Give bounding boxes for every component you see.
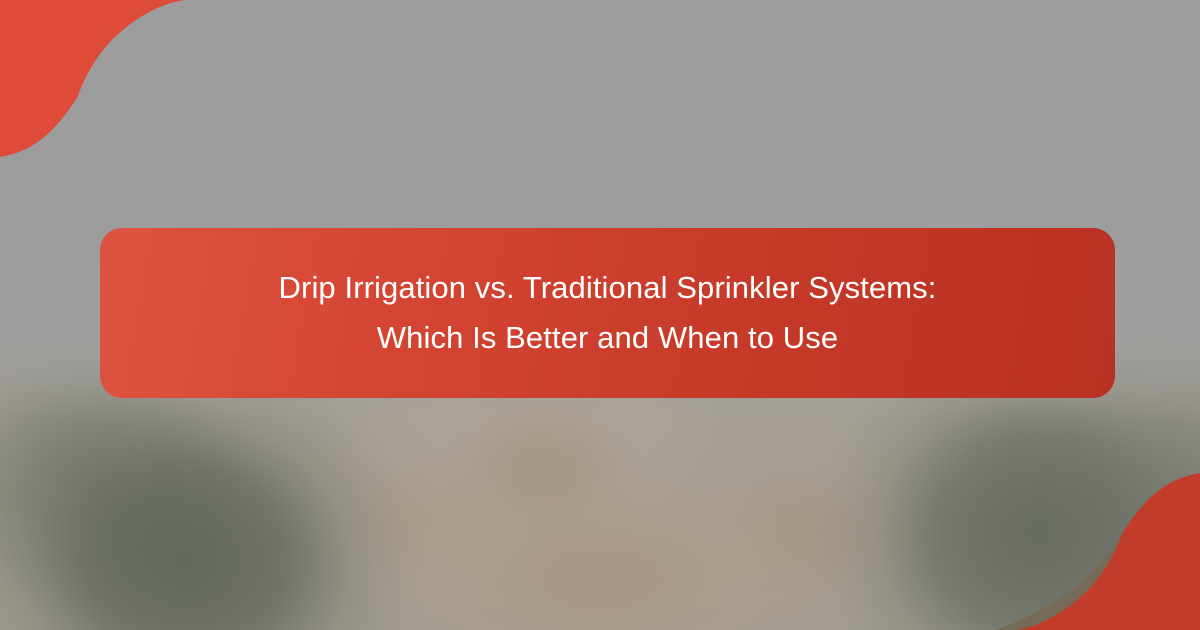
title-banner: Drip Irrigation vs. Traditional Sprinkle… — [100, 228, 1115, 398]
page-title: Drip Irrigation vs. Traditional Sprinkle… — [258, 263, 958, 363]
social-share-card: Drip Irrigation vs. Traditional Sprinkle… — [0, 0, 1200, 630]
